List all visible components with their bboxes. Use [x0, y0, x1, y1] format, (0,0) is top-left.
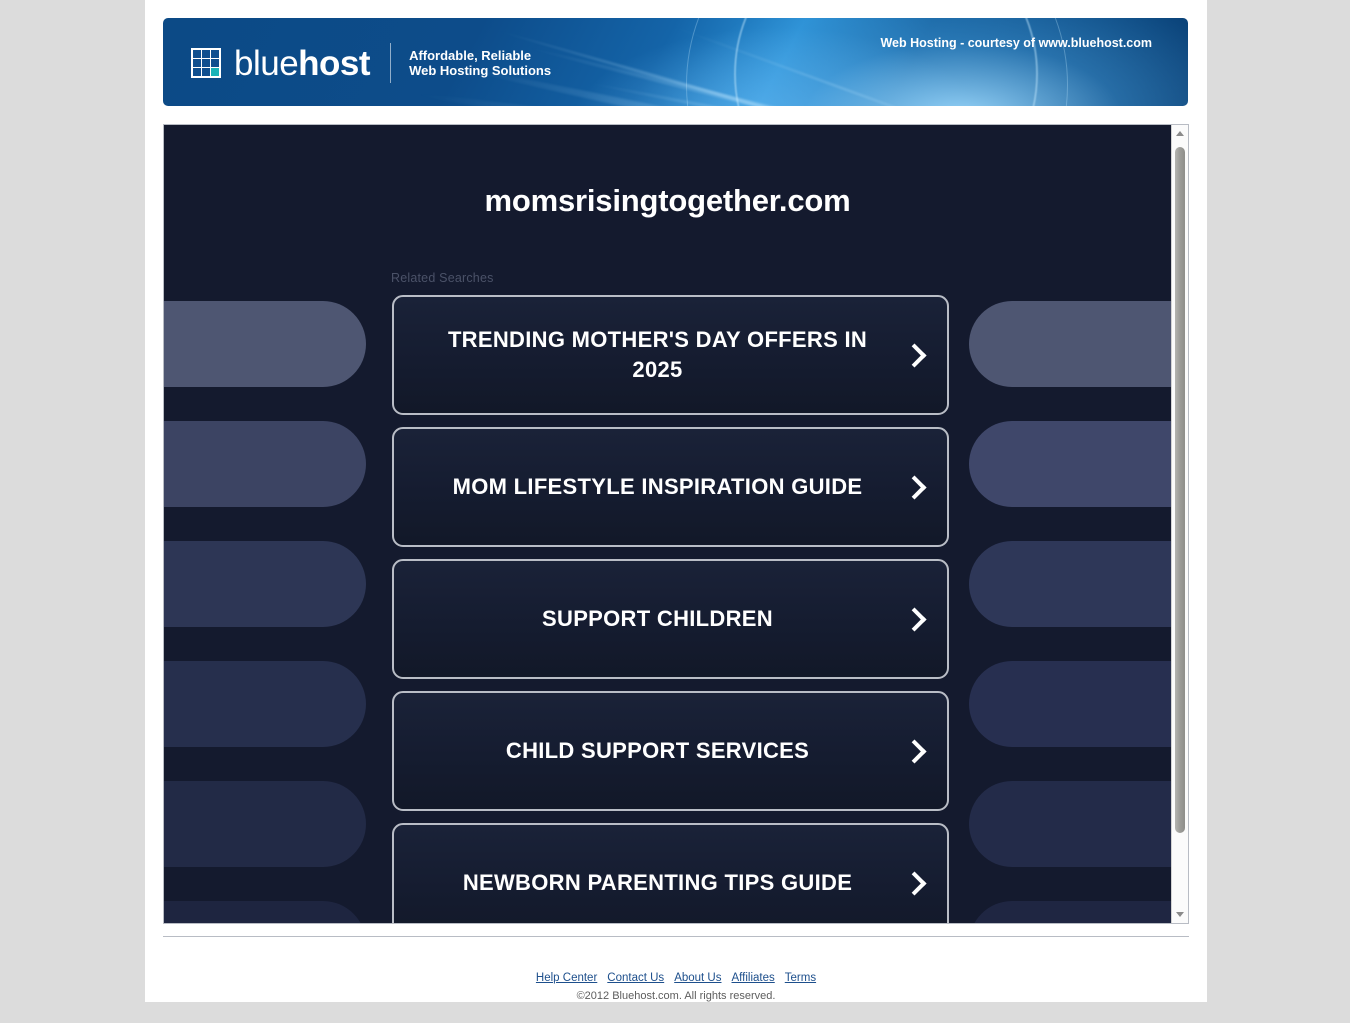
courtesy-text: Web Hosting - courtesy of www.bluehost.c… — [880, 36, 1152, 50]
tagline-line-2: Web Hosting Solutions — [409, 63, 551, 78]
related-search-label: Newborn Parenting Tips Guide — [463, 868, 852, 898]
related-search-button[interactable]: Support Children — [392, 559, 949, 679]
logo-divider — [390, 43, 391, 83]
related-search-label: Trending Mother's Day Offers in 2025 — [424, 325, 891, 385]
scrollbar-thumb[interactable] — [1175, 147, 1185, 833]
page-container: bluehost Affordable, Reliable Web Hostin… — [145, 0, 1207, 1002]
scroll-down-arrow-icon[interactable] — [1172, 906, 1188, 923]
vertical-scrollbar[interactable] — [1171, 125, 1188, 923]
decor-pill — [164, 781, 366, 867]
bluehost-banner: bluehost Affordable, Reliable Web Hostin… — [163, 18, 1188, 106]
parked-page-content: momsrisingtogether.com Related Searches … — [164, 125, 1171, 923]
footer-link[interactable]: About Us — [674, 972, 721, 984]
grid-logo-icon — [191, 48, 221, 78]
related-search-button[interactable]: Trending Mother's Day Offers in 2025 — [392, 295, 949, 415]
related-search-label: Mom Lifestyle Inspiration Guide — [453, 472, 863, 502]
decor-pill — [969, 541, 1171, 627]
related-searches-label: Related Searches — [391, 271, 494, 285]
tagline-line-1: Affordable, Reliable — [409, 48, 531, 63]
chevron-right-icon — [902, 871, 926, 895]
footer-link[interactable]: Contact Us — [607, 972, 664, 984]
chevron-right-icon — [902, 607, 926, 631]
logo-text-blue: blue — [234, 44, 298, 83]
related-search-button[interactable]: Newborn Parenting Tips Guide — [392, 823, 949, 923]
decor-pill — [969, 901, 1171, 923]
chevron-right-icon — [902, 739, 926, 763]
bluehost-wordmark: bluehost — [234, 46, 370, 81]
chevron-right-icon — [902, 343, 926, 367]
decor-pill — [164, 541, 366, 627]
footer-link[interactable]: Help Center — [536, 972, 597, 984]
related-search-button[interactable]: Child Support Services — [392, 691, 949, 811]
page-title: momsrisingtogether.com — [164, 183, 1171, 219]
footer-link[interactable]: Terms — [785, 972, 816, 984]
bluehost-logo[interactable]: bluehost Affordable, Reliable Web Hostin… — [191, 40, 551, 86]
decor-pill — [164, 301, 366, 387]
decor-pill — [164, 901, 366, 923]
chevron-right-icon — [902, 475, 926, 499]
decor-pill — [164, 661, 366, 747]
decor-pill — [969, 421, 1171, 507]
decor-pill — [164, 421, 366, 507]
decor-pill — [969, 301, 1171, 387]
scroll-up-arrow-icon[interactable] — [1172, 125, 1188, 142]
related-search-button[interactable]: Mom Lifestyle Inspiration Guide — [392, 427, 949, 547]
copyright-text: ©2012 Bluehost.com. All rights reserved. — [145, 990, 1207, 1002]
parked-page-frame: momsrisingtogether.com Related Searches … — [163, 124, 1189, 924]
related-search-label: Child Support Services — [506, 736, 809, 766]
footer-divider — [163, 936, 1189, 937]
logo-text-host: host — [298, 44, 370, 83]
related-searches-list: Trending Mother's Day Offers in 2025Mom … — [392, 295, 949, 923]
decor-pill — [969, 781, 1171, 867]
decor-pill — [969, 661, 1171, 747]
banner-tagline: Affordable, Reliable Web Hosting Solutio… — [409, 48, 551, 78]
related-search-label: Support Children — [542, 604, 773, 634]
footer-link[interactable]: Affiliates — [732, 972, 775, 984]
page-footer: Help CenterContact UsAbout UsAffiliatesT… — [145, 968, 1207, 1002]
footer-links: Help CenterContact UsAbout UsAffiliatesT… — [145, 968, 1207, 986]
